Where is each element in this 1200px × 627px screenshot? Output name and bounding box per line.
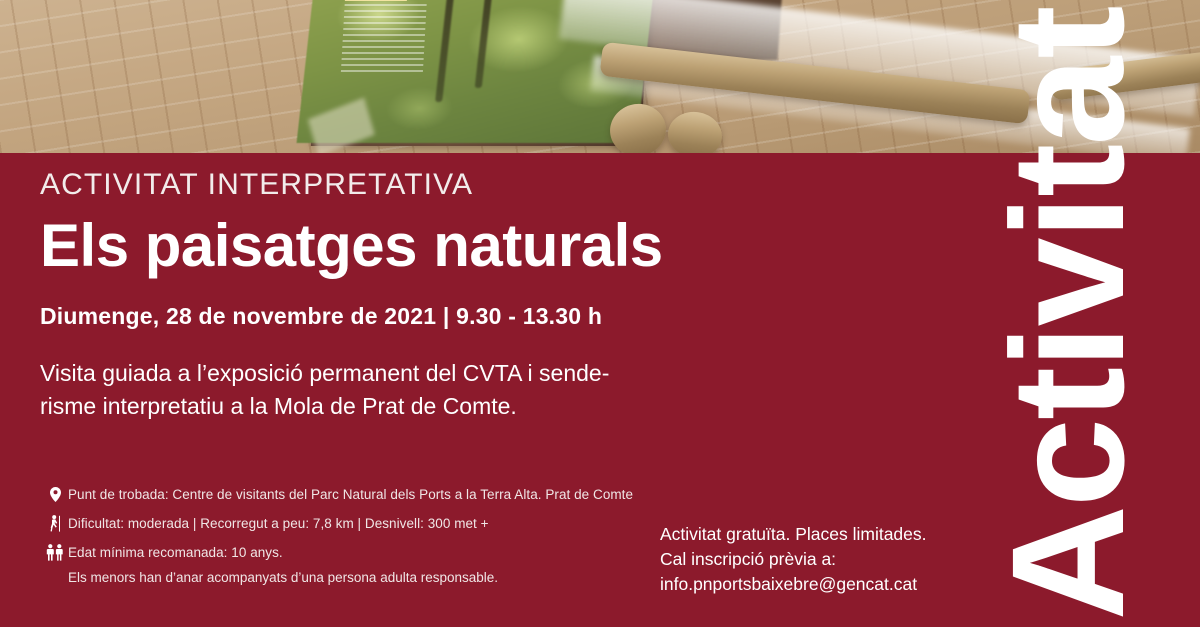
panel-body-text <box>341 4 427 74</box>
list-item: Dificultat: moderada | Recorregut a peu:… <box>42 515 682 532</box>
difficulty-text: Dificultat: moderada | Recorregut a peu:… <box>68 515 489 532</box>
map-pin-icon <box>42 486 68 503</box>
header-photo <box>0 0 1200 153</box>
trail-path <box>308 98 375 153</box>
kicker-label: ACTIVITAT INTERPRETATIVA <box>40 168 770 201</box>
note-line-free-places: Activitat gratuïta. Places limitades. <box>660 522 960 547</box>
page-title: Els paisatges naturals <box>40 215 770 277</box>
date-time-line: Diumenge, 28 de novembre de 2021 | 9.30 … <box>40 303 770 331</box>
family-icon <box>42 544 68 561</box>
tree-trunk-icon <box>475 0 493 88</box>
panel-heading-text <box>345 0 407 1</box>
content-block: ACTIVITAT INTERPRETATIVA Els paisatges n… <box>40 168 770 422</box>
tree-trunk-icon <box>435 0 455 102</box>
note-line-registration: Cal inscripció prèvia a: <box>660 547 960 572</box>
meeting-point-text: Punt de trobada: Centre de visitants del… <box>68 486 633 503</box>
description-line-2: risme interpretatiu a la Mola de Prat de… <box>40 393 517 419</box>
activity-poster: Activitat ACTIVITAT INTERPRETATIVA Els p… <box>0 0 1200 627</box>
minors-note-text: Els menors han d’anar acompanyats d’una … <box>68 570 682 586</box>
minimum-age-text: Edat mínima recomanada: 10 anys. <box>68 544 283 561</box>
description-paragraph: Visita guiada a l’exposició permanent de… <box>40 357 730 422</box>
list-item: Punt de trobada: Centre de visitants del… <box>42 486 682 503</box>
hiker-icon <box>42 515 68 532</box>
note-email-address[interactable]: info.pnportsbaixebre@gencat.cat <box>660 572 960 597</box>
description-line-1: Visita guiada a l’exposició permanent de… <box>40 360 609 386</box>
list-item: Edat mínima recomanada: 10 anys. <box>42 544 682 561</box>
registration-note: Activitat gratuïta. Places limitades. Ca… <box>660 522 960 597</box>
details-list: Punt de trobada: Centre de visitants del… <box>42 486 682 586</box>
